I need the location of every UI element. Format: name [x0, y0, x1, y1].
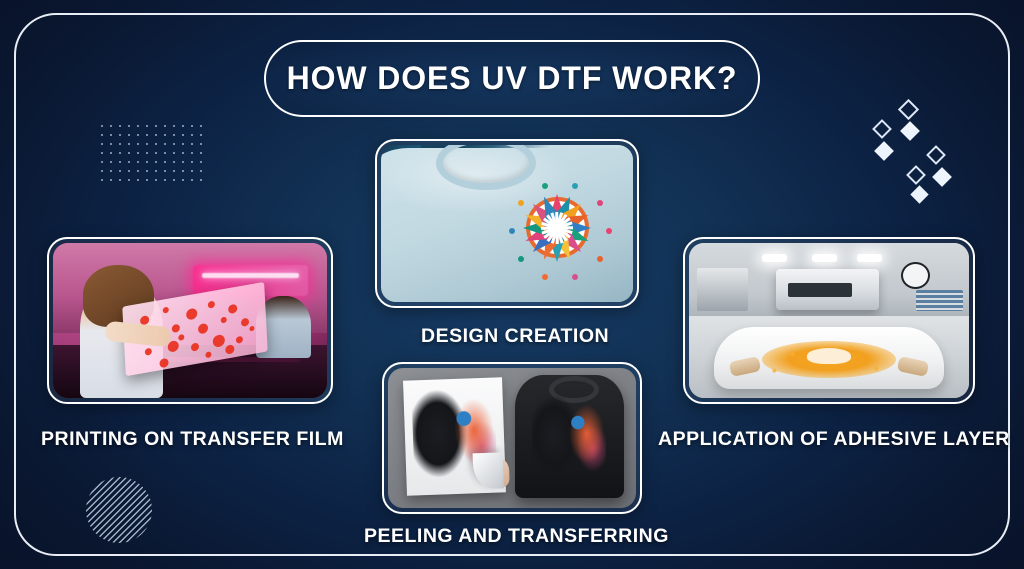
grid-dot	[191, 134, 193, 136]
mandala-dot	[518, 256, 524, 262]
printed-ink-dot	[236, 336, 243, 344]
grid-dot	[110, 134, 112, 136]
wall-clock-icon	[901, 262, 930, 289]
grid-dot	[110, 143, 112, 145]
grid-dot	[164, 179, 166, 181]
grid-dot	[128, 152, 130, 154]
mandala-dot	[518, 200, 524, 206]
grid-dot	[146, 161, 148, 163]
diamond-outline-icon	[872, 119, 892, 139]
ceiling-light-icon	[812, 254, 837, 262]
grid-dot	[137, 179, 139, 181]
grid-dot	[155, 161, 157, 163]
grid-dot	[173, 152, 175, 154]
photo-peeling-and-transferring	[388, 368, 636, 508]
grid-dot	[191, 152, 193, 154]
title-pill: HOW DOES UV DTF WORK?	[264, 40, 760, 117]
printed-ink-dot	[145, 348, 152, 356]
grid-dot	[137, 161, 139, 163]
storage-shelf	[697, 268, 747, 311]
grid-dot	[137, 134, 139, 136]
photo-application-of-adhesive-layer	[689, 243, 969, 398]
grid-dot	[182, 134, 184, 136]
diamond-filled-icon	[932, 167, 952, 187]
grid-dot	[146, 125, 148, 127]
grid-dot	[110, 161, 112, 163]
caption-peeling-and-transferring: PEELING AND TRANSFERRING	[364, 525, 669, 548]
grid-dot	[101, 143, 103, 145]
grid-dot	[155, 170, 157, 172]
grid-dot	[101, 134, 103, 136]
grid-dot	[110, 170, 112, 172]
grid-dot	[164, 170, 166, 172]
grid-dot	[146, 179, 148, 181]
mandala-dot	[572, 274, 578, 280]
grid-dot	[173, 161, 175, 163]
diamond-outline-icon	[898, 99, 919, 120]
grid-dot	[164, 134, 166, 136]
grid-dot	[191, 170, 193, 172]
printed-ink-dot	[225, 345, 234, 356]
grid-dot	[128, 143, 130, 145]
grid-dot	[182, 170, 184, 172]
grid-dot	[200, 179, 202, 181]
grid-dot	[182, 125, 184, 127]
diamond-filled-icon	[874, 141, 894, 161]
grid-dot	[155, 179, 157, 181]
printed-ink-dot	[179, 334, 185, 341]
printed-ink-dot	[198, 323, 209, 335]
grid-dot	[164, 125, 166, 127]
caption-application-of-adhesive-layer: APPLICATION OF ADHESIVE LAYER	[658, 428, 1010, 451]
grid-dot	[173, 125, 175, 127]
black-tshirt	[515, 375, 624, 498]
mandala-dot	[542, 183, 548, 189]
grid-dot	[119, 152, 121, 154]
grid-dot	[110, 179, 112, 181]
grid-dot	[155, 143, 157, 145]
grid-dot	[128, 125, 130, 127]
grid-dot	[182, 179, 184, 181]
photo-printing-on-transfer-film	[53, 243, 327, 398]
grid-dot	[164, 143, 166, 145]
mandala-dot	[597, 256, 603, 262]
grid-dot	[155, 152, 157, 154]
grid-dot	[128, 161, 130, 163]
dot-grid-decoration	[101, 125, 205, 185]
grid-dot	[155, 134, 157, 136]
printed-ink-dot	[172, 323, 180, 332]
grid-dot	[128, 170, 130, 172]
printed-ink-dot	[163, 307, 169, 314]
grid-dot	[200, 170, 202, 172]
astronaut-artwork	[532, 395, 606, 476]
step-card-design-creation[interactable]	[375, 139, 639, 308]
mandala-dot	[509, 228, 515, 234]
grid-dot	[146, 134, 148, 136]
ceiling-light-icon	[857, 254, 882, 262]
grid-dot	[101, 125, 103, 127]
mandala-design-icon	[505, 176, 611, 280]
transfer-sheet	[403, 377, 506, 495]
grid-dot	[128, 134, 130, 136]
grid-dot	[200, 161, 202, 163]
grid-dot	[137, 125, 139, 127]
grid-dot	[200, 152, 202, 154]
printed-ink-dot	[241, 318, 249, 327]
hatch-lines	[86, 477, 152, 543]
grid-dot	[146, 152, 148, 154]
grid-dot	[173, 143, 175, 145]
grid-dot	[182, 161, 184, 163]
grid-dot	[137, 143, 139, 145]
grid-dot	[200, 143, 202, 145]
grid-dot	[128, 179, 130, 181]
grid-dot	[191, 125, 193, 127]
infographic-canvas: HOW DOES UV DTF WORK? DESIGN CREATION PR…	[0, 0, 1024, 569]
diamond-filled-icon	[900, 121, 920, 141]
grid-dot	[164, 152, 166, 154]
page-title: HOW DOES UV DTF WORK?	[287, 60, 738, 97]
mandala-dot	[542, 274, 548, 280]
grid-dot	[173, 170, 175, 172]
diamond-outline-icon	[906, 165, 926, 185]
peeled-corner	[473, 452, 504, 490]
grid-dot	[119, 161, 121, 163]
printed-logo	[807, 348, 852, 364]
grid-dot	[101, 170, 103, 172]
grid-dot	[119, 134, 121, 136]
photo-design-creation	[381, 145, 633, 302]
caption-printing-on-transfer-film: PRINTING ON TRANSFER FILM	[41, 428, 344, 451]
grid-dot	[173, 134, 175, 136]
step-card-printing-on-transfer-film[interactable]	[47, 237, 333, 404]
printed-ink-dot	[167, 340, 179, 353]
mandala-dot	[597, 200, 603, 206]
printed-ink-dot	[213, 334, 226, 348]
printed-ink-dot	[229, 303, 238, 314]
grid-dot	[191, 161, 193, 163]
printed-ink-dot	[186, 308, 198, 321]
grid-dot	[146, 170, 148, 172]
grid-dot	[119, 170, 121, 172]
grid-dot	[191, 179, 193, 181]
grid-dot	[119, 179, 121, 181]
grid-dot	[110, 152, 112, 154]
grid-dot	[155, 125, 157, 127]
diamond-filled-icon	[910, 185, 928, 203]
printed-ink-dot	[191, 342, 199, 351]
grid-dot	[200, 125, 202, 127]
diamond-cluster-decoration	[865, 98, 965, 203]
printed-ink-dot	[160, 357, 169, 368]
hatched-circle-decoration	[86, 477, 152, 543]
grid-dot	[146, 143, 148, 145]
step-card-peeling-and-transferring[interactable]	[382, 362, 642, 514]
uv-printer	[776, 269, 880, 309]
stacked-trays	[916, 290, 964, 312]
mandala-dot	[572, 183, 578, 189]
grid-dot	[173, 179, 175, 181]
printed-ink-dot	[205, 351, 211, 358]
grid-dot	[110, 125, 112, 127]
grid-dot	[191, 143, 193, 145]
step-card-application-of-adhesive-layer[interactable]	[683, 237, 975, 404]
grid-dot	[137, 170, 139, 172]
diamond-outline-icon	[926, 145, 946, 165]
grid-dot	[101, 161, 103, 163]
printed-ink-dot	[250, 326, 255, 332]
grid-dot	[101, 152, 103, 154]
grid-dot	[119, 125, 121, 127]
grid-dot	[101, 179, 103, 181]
grid-dot	[164, 161, 166, 163]
grid-dot	[200, 134, 202, 136]
ceiling-light-icon	[762, 254, 787, 262]
caption-design-creation: DESIGN CREATION	[421, 325, 609, 348]
printed-ink-dot	[221, 317, 227, 324]
grid-dot	[137, 152, 139, 154]
grid-dot	[182, 143, 184, 145]
grid-dot	[119, 143, 121, 145]
printed-ink-dot	[208, 300, 215, 308]
grid-dot	[182, 152, 184, 154]
